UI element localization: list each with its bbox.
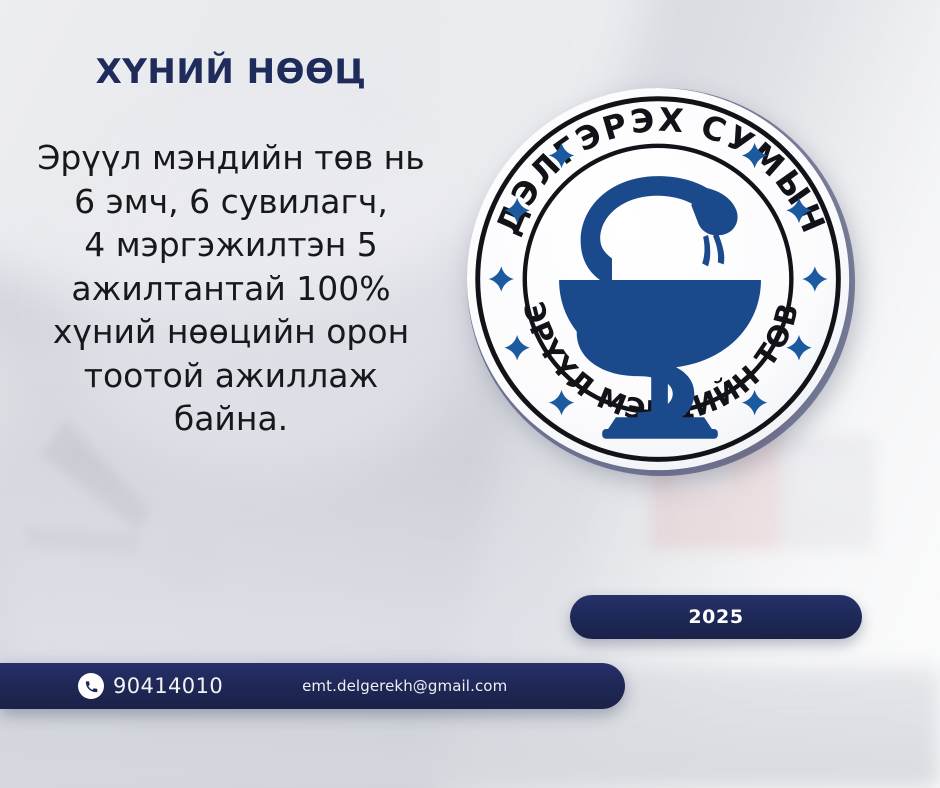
phone-number: 90414010 [113,674,223,698]
organization-seal-logo: ДЭЛГЭРЭХ СУМЫН ЭРҮҮЛ МЭНДИЙН ТӨВ [465,62,857,502]
phone-contact[interactable]: 90414010 [78,673,223,699]
body-paragraph: Эрүүл мэндийн төв нь 6 эмч, 6 сувилагч, … [0,136,462,441]
body-line: 4 мэргэжилтэн 5 [0,223,462,267]
body-line: тоотой ажиллаж [0,354,462,398]
body-line: Эрүүл мэндийн төв нь [0,136,462,180]
year-badge: 2025 [570,595,862,639]
page-title: ХҮНИЙ НӨӨЦ [0,52,462,92]
contact-bar: 90414010 emt.delgerekh@gmail.com [0,663,625,709]
phone-icon [78,673,104,699]
body-line: хүний нөөцийн орон [0,310,462,354]
year-badge-label: 2025 [688,606,743,628]
body-line: 6 эмч, 6 сувилагч, [0,180,462,224]
poster-canvas: ХҮНИЙ НӨӨЦ Эрүүл мэндийн төв нь 6 эмч, 6… [0,0,940,788]
body-line: ажилтантай 100% [0,267,462,311]
email-address[interactable]: emt.delgerekh@gmail.com [302,677,507,695]
body-line: байна. [0,397,462,441]
